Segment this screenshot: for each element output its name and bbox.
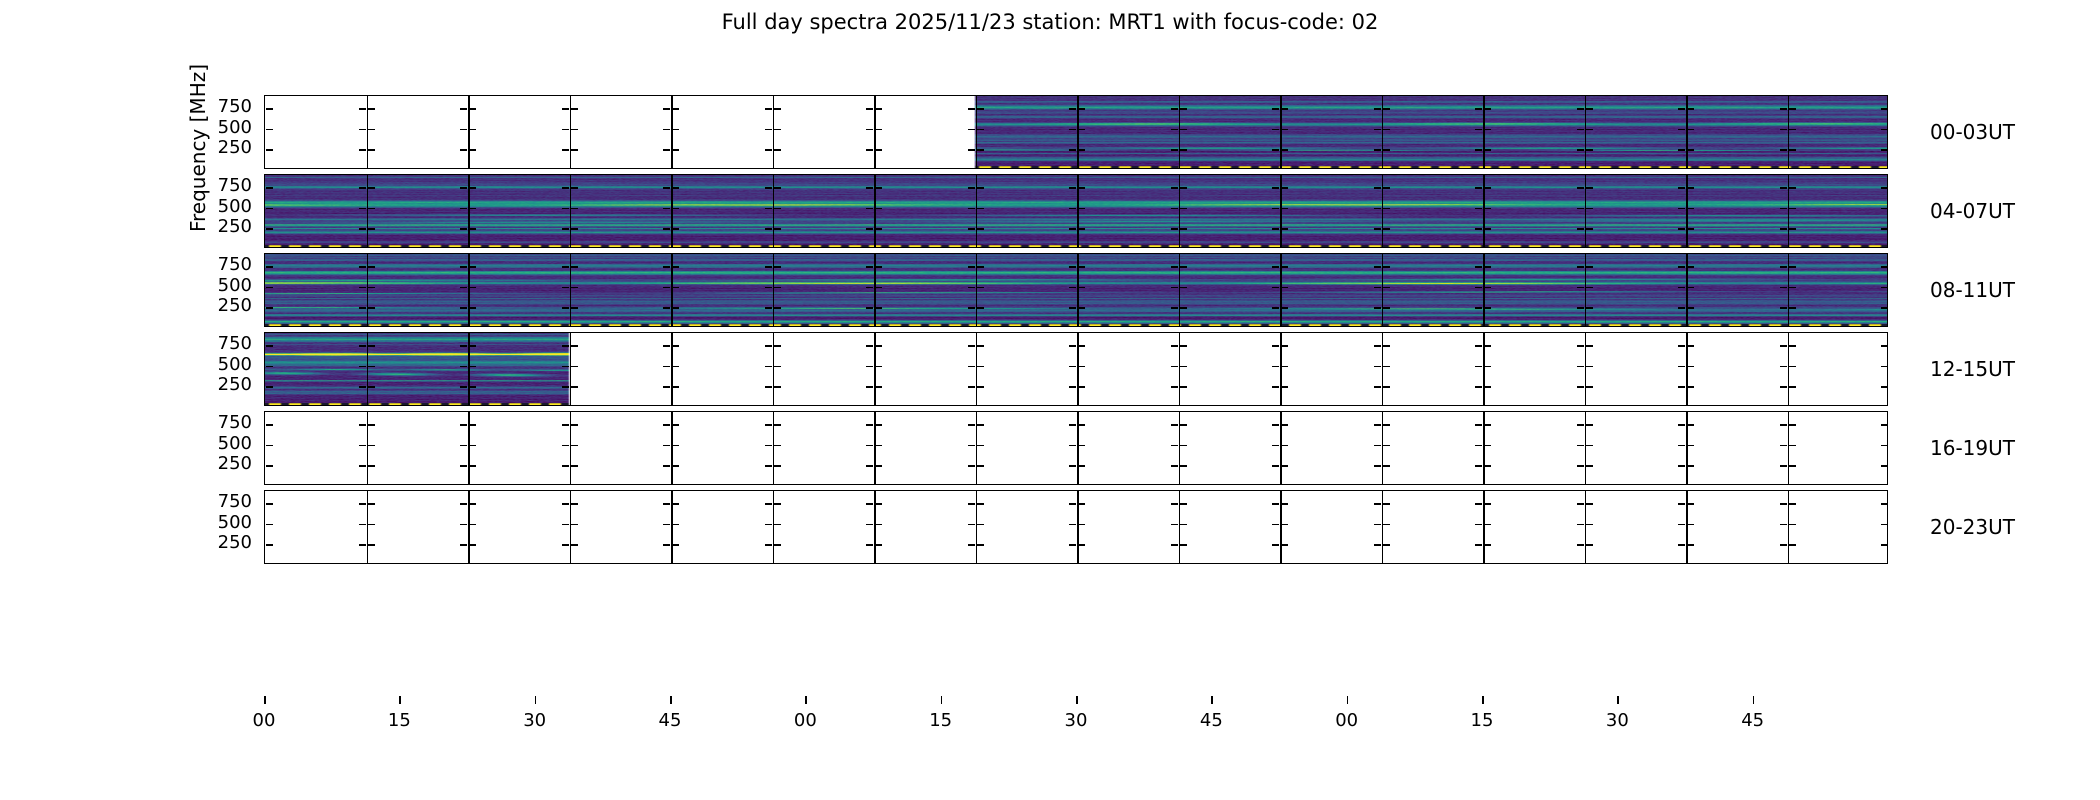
x-tick-label: 00 <box>244 712 284 730</box>
y-tick-mark <box>1069 544 1076 546</box>
y-tick-mark <box>1069 465 1076 467</box>
row-label-12-15ut: 12-15UT <box>1930 359 2015 379</box>
y-tick-mark <box>368 544 375 546</box>
y-tick-mark <box>1484 465 1491 467</box>
y-tick-mark <box>875 503 882 505</box>
y-tick-mark <box>977 544 984 546</box>
subpanel-divider <box>1483 412 1485 484</box>
y-tick-mark <box>1069 424 1076 426</box>
y-tick-mark <box>977 503 984 505</box>
y-tick-mark <box>1780 465 1787 467</box>
x-tick-mark <box>1753 696 1755 704</box>
subpanel-divider <box>468 412 470 484</box>
row-label-04-07ut: 04-07UT <box>1930 201 2015 221</box>
y-tick-mark <box>368 445 375 447</box>
y-tick-mark <box>1687 445 1694 447</box>
x-tick-mark <box>670 696 672 704</box>
subpanel-divider <box>773 412 775 484</box>
x-tick-mark <box>805 696 807 704</box>
y-tick-mark <box>866 503 873 505</box>
y-tick-mark <box>774 465 781 467</box>
y-tick-mark <box>1374 524 1381 526</box>
y-tick-mark <box>866 424 873 426</box>
y-tick-mark <box>1577 424 1584 426</box>
y-tick-mark <box>571 544 578 546</box>
y-tick-mark <box>663 465 670 467</box>
y-tick-mark <box>1586 503 1593 505</box>
y-tick-mark <box>266 465 273 467</box>
subpanel-divider <box>1686 412 1688 484</box>
y-tick-mark <box>875 544 882 546</box>
subpanel-divider <box>671 491 673 563</box>
y-tick-mark <box>977 524 984 526</box>
y-tick-mark <box>1687 544 1694 546</box>
y-tick-mark <box>359 544 366 546</box>
y-tick-label: 500 <box>194 514 252 532</box>
y-tick-mark <box>1577 503 1584 505</box>
y-tick-mark <box>1687 465 1694 467</box>
y-tick-mark <box>774 544 781 546</box>
y-tick-mark <box>1475 424 1482 426</box>
y-tick-mark <box>1881 503 1888 505</box>
row-label-00-03ut: 00-03UT <box>1930 122 2015 142</box>
y-tick-mark <box>1180 424 1187 426</box>
y-tick-mark <box>1281 544 1288 546</box>
y-tick-mark <box>1484 503 1491 505</box>
x-tick-mark <box>941 696 943 704</box>
y-tick-label: 500 <box>194 435 252 453</box>
x-tick-mark <box>535 696 537 704</box>
y-tick-mark <box>1180 445 1187 447</box>
y-tick-mark <box>571 424 578 426</box>
y-tick-mark <box>368 503 375 505</box>
subpanel-divider <box>1077 491 1079 563</box>
spectrogram-image <box>265 254 1888 327</box>
y-tick-mark <box>968 424 975 426</box>
y-tick-mark <box>1180 465 1187 467</box>
y-tick-mark <box>866 445 873 447</box>
y-tick-mark <box>672 544 679 546</box>
y-tick-mark <box>1171 445 1178 447</box>
y-tick-mark <box>875 524 882 526</box>
y-tick-mark <box>571 465 578 467</box>
y-tick-mark <box>672 465 679 467</box>
y-tick-mark <box>562 424 569 426</box>
y-tick-mark <box>875 465 882 467</box>
subpanel-divider <box>1585 412 1587 484</box>
y-tick-label: 750 <box>194 414 252 432</box>
y-tick-mark <box>1383 465 1390 467</box>
y-tick-mark <box>1789 503 1796 505</box>
subpanel-dividers <box>265 491 1887 563</box>
x-tick-label: 45 <box>1733 712 1773 730</box>
y-tick-mark <box>866 465 873 467</box>
spectrogram-figure: Full day spectra 2025/11/23 station: MRT… <box>0 0 2100 800</box>
y-tick-mark <box>469 544 476 546</box>
x-tick-label: 30 <box>1597 712 1637 730</box>
y-tick-mark <box>1687 503 1694 505</box>
y-tick-mark <box>1780 524 1787 526</box>
x-tick-mark <box>264 696 266 704</box>
y-tick-label: 250 <box>194 218 252 236</box>
y-tick-mark <box>469 524 476 526</box>
y-tick-mark <box>1577 445 1584 447</box>
y-tick-mark <box>469 465 476 467</box>
y-tick-mark <box>469 503 476 505</box>
y-tick-mark <box>1281 445 1288 447</box>
row-label-08-11ut: 08-11UT <box>1930 280 2015 300</box>
subpanel-divider <box>874 412 876 484</box>
y-tick-mark <box>1678 544 1685 546</box>
y-tick-mark <box>1171 424 1178 426</box>
y-tick-mark <box>1171 524 1178 526</box>
y-tick-mark <box>1881 544 1888 546</box>
spectrogram-row-20-23ut[interactable] <box>264 490 1888 564</box>
x-tick-label: 00 <box>1327 712 1367 730</box>
subpanel-divider <box>1382 491 1384 563</box>
subpanel-divider <box>570 412 572 484</box>
y-tick-mark <box>1171 465 1178 467</box>
y-tick-mark <box>968 445 975 447</box>
y-tick-mark <box>1678 424 1685 426</box>
subpanel-divider <box>1382 412 1384 484</box>
y-tick-mark <box>460 465 467 467</box>
y-tick-mark <box>1069 445 1076 447</box>
y-tick-mark <box>1281 524 1288 526</box>
y-tick-mark <box>1078 524 1085 526</box>
y-tick-mark <box>368 424 375 426</box>
y-tick-mark <box>1789 524 1796 526</box>
y-tick-mark <box>1272 524 1279 526</box>
y-tick-mark <box>1678 503 1685 505</box>
y-tick-mark <box>266 445 273 447</box>
y-tick-mark <box>765 424 772 426</box>
y-tick-mark <box>765 445 772 447</box>
spectrogram-row-04-07ut[interactable] <box>264 174 1888 248</box>
y-tick-mark <box>1475 524 1482 526</box>
y-tick-mark <box>1272 424 1279 426</box>
x-tick-label: 15 <box>379 712 419 730</box>
y-tick-mark <box>866 524 873 526</box>
y-tick-mark <box>368 465 375 467</box>
y-tick-mark <box>359 424 366 426</box>
subpanel-divider <box>1686 491 1688 563</box>
row-label-20-23ut: 20-23UT <box>1930 517 2015 537</box>
y-tick-mark <box>1586 524 1593 526</box>
subpanel-divider <box>1280 412 1282 484</box>
y-tick-mark <box>977 445 984 447</box>
y-tick-mark <box>663 445 670 447</box>
x-tick-mark <box>399 696 401 704</box>
y-tick-mark <box>968 465 975 467</box>
y-tick-mark <box>1789 445 1796 447</box>
y-tick-mark <box>1281 503 1288 505</box>
spectrogram-image <box>265 333 1888 406</box>
y-tick-mark <box>1078 465 1085 467</box>
y-tick-mark <box>875 424 882 426</box>
y-tick-mark <box>765 544 772 546</box>
y-tick-mark <box>774 445 781 447</box>
y-tick-mark <box>1180 524 1187 526</box>
y-tick-mark <box>1484 424 1491 426</box>
y-tick-mark <box>460 445 467 447</box>
x-tick-label: 00 <box>785 712 825 730</box>
y-tick-mark <box>1687 424 1694 426</box>
x-tick-label: 30 <box>1056 712 1096 730</box>
y-tick-mark <box>1881 445 1888 447</box>
subpanel-divider <box>976 491 978 563</box>
y-tick-mark <box>1383 524 1390 526</box>
y-tick-mark <box>266 544 273 546</box>
x-tick-label: 45 <box>1191 712 1231 730</box>
y-tick-mark <box>562 544 569 546</box>
y-tick-mark <box>774 524 781 526</box>
y-tick-mark <box>359 524 366 526</box>
y-tick-mark <box>1881 424 1888 426</box>
y-tick-mark <box>1678 465 1685 467</box>
y-tick-label: 250 <box>194 297 252 315</box>
y-tick-mark <box>562 465 569 467</box>
y-tick-mark <box>1577 465 1584 467</box>
y-tick-mark <box>460 424 467 426</box>
y-tick-mark <box>977 424 984 426</box>
y-tick-mark <box>765 503 772 505</box>
y-tick-mark <box>968 503 975 505</box>
subpanel-dividers <box>265 412 1887 484</box>
y-tick-mark <box>1374 503 1381 505</box>
y-tick-mark <box>1069 524 1076 526</box>
y-tick-mark <box>1484 445 1491 447</box>
y-tick-mark <box>1374 544 1381 546</box>
y-tick-mark <box>672 503 679 505</box>
y-tick-label: 500 <box>194 356 252 374</box>
y-tick-mark <box>1069 503 1076 505</box>
y-tick-mark <box>977 465 984 467</box>
y-tick-label: 750 <box>194 98 252 116</box>
y-tick-mark <box>765 524 772 526</box>
y-tick-mark <box>1180 544 1187 546</box>
y-tick-mark <box>1078 424 1085 426</box>
y-tick-mark <box>469 424 476 426</box>
y-tick-mark <box>1678 524 1685 526</box>
y-tick-mark <box>1374 445 1381 447</box>
y-tick-mark <box>1586 544 1593 546</box>
y-tick-mark <box>1475 544 1482 546</box>
y-tick-label: 500 <box>194 277 252 295</box>
subpanel-divider <box>1179 412 1181 484</box>
y-tick-mark <box>571 524 578 526</box>
y-tick-mark <box>1272 445 1279 447</box>
subpanel-divider <box>468 491 470 563</box>
subpanel-divider <box>1280 491 1282 563</box>
y-tick-mark <box>1678 445 1685 447</box>
x-tick-label: 45 <box>650 712 690 730</box>
y-tick-label: 250 <box>194 376 252 394</box>
y-tick-mark <box>359 503 366 505</box>
y-tick-mark <box>562 445 569 447</box>
y-tick-label: 250 <box>194 455 252 473</box>
subpanel-divider <box>1585 491 1587 563</box>
x-tick-mark <box>1617 696 1619 704</box>
y-tick-mark <box>266 424 273 426</box>
y-tick-mark <box>672 424 679 426</box>
y-tick-mark <box>1586 445 1593 447</box>
y-tick-mark <box>1780 445 1787 447</box>
y-tick-mark <box>266 503 273 505</box>
subpanel-divider <box>367 491 369 563</box>
y-tick-mark <box>571 503 578 505</box>
subpanel-divider <box>874 491 876 563</box>
y-tick-mark <box>672 445 679 447</box>
y-tick-mark <box>968 544 975 546</box>
subpanel-divider <box>1788 491 1790 563</box>
y-tick-mark <box>359 465 366 467</box>
y-tick-mark <box>1078 445 1085 447</box>
y-tick-mark <box>1789 544 1796 546</box>
y-tick-mark <box>1780 424 1787 426</box>
y-tick-mark <box>469 445 476 447</box>
y-tick-mark <box>1475 503 1482 505</box>
y-tick-mark <box>1475 445 1482 447</box>
x-tick-mark <box>1482 696 1484 704</box>
y-tick-mark <box>562 524 569 526</box>
y-tick-mark <box>1484 544 1491 546</box>
y-tick-mark <box>266 524 273 526</box>
y-tick-mark <box>1586 424 1593 426</box>
spectrogram-image <box>265 96 1888 169</box>
y-tick-label: 750 <box>194 493 252 511</box>
page-title: Full day spectra 2025/11/23 station: MRT… <box>0 10 2100 34</box>
subpanel-divider <box>773 491 775 563</box>
y-tick-mark <box>1383 503 1390 505</box>
y-tick-mark <box>1881 524 1888 526</box>
y-tick-mark <box>1171 503 1178 505</box>
y-tick-label: 500 <box>194 198 252 216</box>
y-tick-mark <box>1374 465 1381 467</box>
subpanel-divider <box>976 412 978 484</box>
subpanel-divider <box>1077 412 1079 484</box>
y-tick-label: 250 <box>194 139 252 157</box>
y-tick-mark <box>875 445 882 447</box>
y-tick-mark <box>1171 544 1178 546</box>
x-tick-label: 30 <box>515 712 555 730</box>
y-tick-mark <box>562 503 569 505</box>
y-tick-mark <box>1281 424 1288 426</box>
y-tick-mark <box>1374 424 1381 426</box>
y-tick-label: 750 <box>194 335 252 353</box>
x-tick-label: 15 <box>921 712 961 730</box>
y-tick-mark <box>1078 544 1085 546</box>
spectrogram-image <box>265 175 1888 248</box>
y-tick-label: 750 <box>194 256 252 274</box>
y-tick-mark <box>1577 524 1584 526</box>
x-tick-mark <box>1076 696 1078 704</box>
y-tick-mark <box>663 544 670 546</box>
y-tick-mark <box>571 445 578 447</box>
spectrogram-row-00-03ut[interactable] <box>264 95 1888 169</box>
x-tick-mark <box>1211 696 1213 704</box>
y-tick-mark <box>460 503 467 505</box>
subpanel-divider <box>367 412 369 484</box>
y-tick-mark <box>1577 544 1584 546</box>
y-tick-mark <box>368 524 375 526</box>
y-tick-mark <box>1383 544 1390 546</box>
y-tick-mark <box>1780 503 1787 505</box>
y-tick-mark <box>1586 465 1593 467</box>
y-tick-mark <box>1789 465 1796 467</box>
y-tick-mark <box>866 544 873 546</box>
y-tick-mark <box>663 524 670 526</box>
y-tick-mark <box>1475 465 1482 467</box>
subpanel-divider <box>570 491 572 563</box>
y-tick-mark <box>663 424 670 426</box>
y-tick-mark <box>1484 524 1491 526</box>
y-tick-mark <box>663 503 670 505</box>
spectrogram-row-12-15ut[interactable] <box>264 332 1888 406</box>
y-tick-label: 750 <box>194 177 252 195</box>
y-tick-mark <box>1281 465 1288 467</box>
y-tick-mark <box>1272 544 1279 546</box>
y-tick-mark <box>1272 503 1279 505</box>
y-tick-mark <box>672 524 679 526</box>
y-tick-mark <box>359 445 366 447</box>
y-tick-mark <box>1383 424 1390 426</box>
subpanel-divider <box>1788 412 1790 484</box>
y-tick-mark <box>968 524 975 526</box>
y-tick-mark <box>1180 503 1187 505</box>
y-tick-mark <box>1780 544 1787 546</box>
y-tick-mark <box>765 465 772 467</box>
y-tick-mark <box>774 424 781 426</box>
y-tick-mark <box>774 503 781 505</box>
y-tick-mark <box>460 544 467 546</box>
subpanel-divider <box>671 412 673 484</box>
y-tick-mark <box>1078 503 1085 505</box>
y-tick-mark <box>1687 524 1694 526</box>
x-tick-label: 15 <box>1462 712 1502 730</box>
subpanel-divider <box>1483 491 1485 563</box>
y-tick-mark <box>1881 465 1888 467</box>
y-tick-mark <box>1272 465 1279 467</box>
y-tick-label: 250 <box>194 534 252 552</box>
y-tick-mark <box>1383 445 1390 447</box>
y-tick-mark <box>460 524 467 526</box>
subpanel-divider <box>1179 491 1181 563</box>
y-tick-mark <box>1789 424 1796 426</box>
spectrogram-row-16-19ut[interactable] <box>264 411 1888 485</box>
spectrogram-row-08-11ut[interactable] <box>264 253 1888 327</box>
x-tick-mark <box>1347 696 1349 704</box>
row-label-16-19ut: 16-19UT <box>1930 438 2015 458</box>
y-tick-label: 500 <box>194 119 252 137</box>
